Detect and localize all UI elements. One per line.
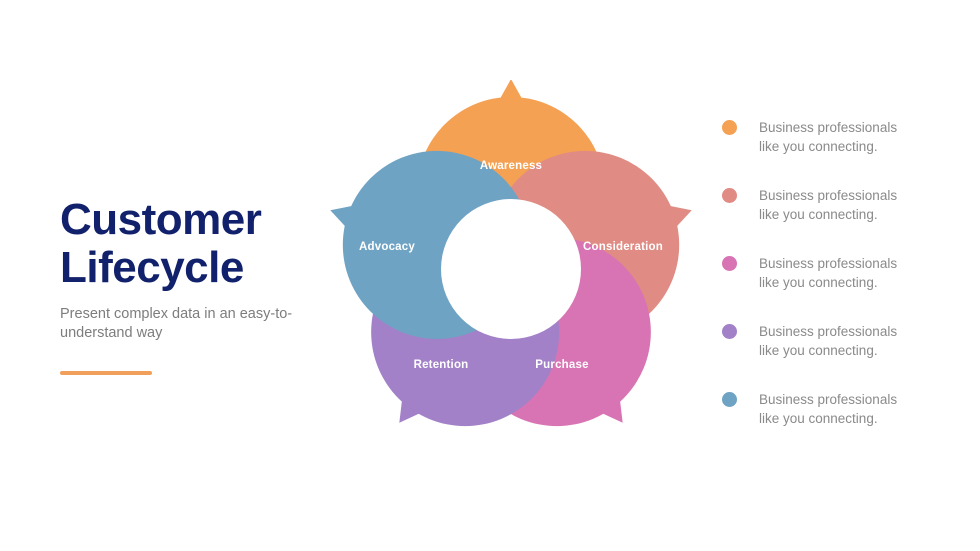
legend-list: Business professionals like you connecti… [722, 118, 952, 428]
legend-bullet-icon [722, 120, 737, 135]
diagram-svg: AwarenessConsiderationPurchaseRetentionA… [295, 80, 735, 460]
slide-canvas: Customer Lifecycle Present complex data … [0, 0, 980, 551]
legend-item[interactable]: Business professionals like you connecti… [722, 186, 952, 224]
legend-item-label: Business professionals like you connecti… [759, 118, 897, 156]
page-subtitle: Present complex data in an easy-to-under… [60, 292, 310, 343]
legend-item[interactable]: Business professionals like you connecti… [722, 322, 952, 360]
petal-label-consideration: Consideration [583, 241, 663, 253]
legend-item-label: Business professionals like you connecti… [759, 390, 897, 428]
title-block: Customer Lifecycle Present complex data … [60, 196, 330, 375]
petal-label-retention: Retention [414, 359, 469, 371]
legend-item-label: Business professionals like you connecti… [759, 322, 897, 360]
petal-label-purchase: Purchase [535, 359, 588, 371]
legend-item[interactable]: Business professionals like you connecti… [722, 118, 952, 156]
legend-item[interactable]: Business professionals like you connecti… [722, 390, 952, 428]
petal-label-advocacy: Advocacy [359, 241, 415, 253]
legend-bullet-icon [722, 256, 737, 271]
customer-lifecycle-diagram: AwarenessConsiderationPurchaseRetentionA… [295, 80, 735, 460]
legend-item-label: Business professionals like you connecti… [759, 254, 897, 292]
page-title: Customer Lifecycle [60, 196, 330, 292]
title-underline-rule [60, 371, 152, 375]
legend-bullet-icon [722, 324, 737, 339]
diagram-center-circle [441, 199, 581, 339]
legend-bullet-icon [722, 188, 737, 203]
petal-label-awareness: Awareness [480, 160, 542, 172]
legend-item-label: Business professionals like you connecti… [759, 186, 897, 224]
legend-bullet-icon [722, 392, 737, 407]
legend-item[interactable]: Business professionals like you connecti… [722, 254, 952, 292]
